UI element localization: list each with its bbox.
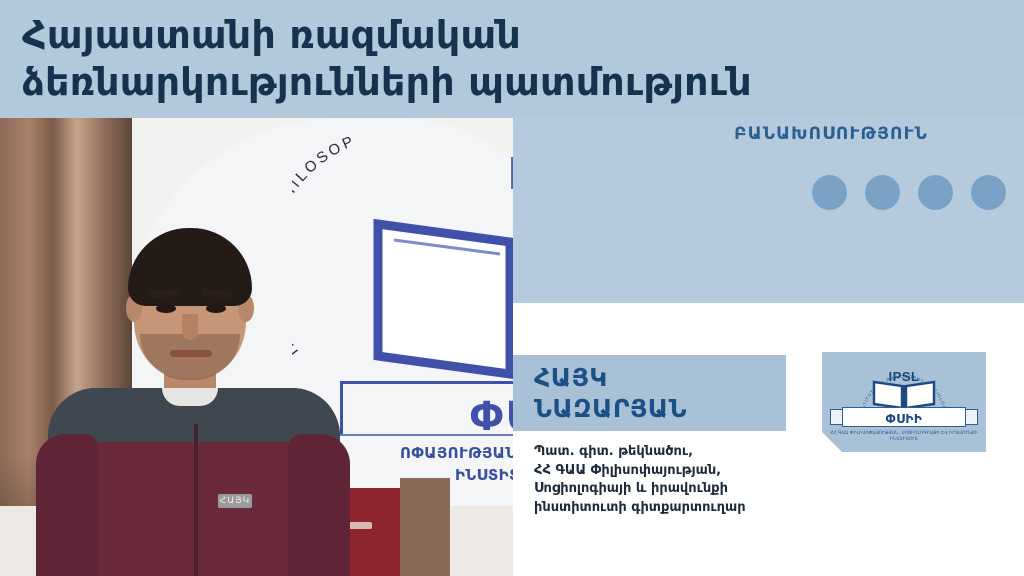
background-logo-caption-2: ԻՆՍՏԻՏՈՒՏ bbox=[455, 466, 513, 484]
right-eye bbox=[206, 304, 226, 313]
speaker-figure: ՀԱՅԿ bbox=[30, 238, 360, 576]
dot-icon bbox=[918, 175, 953, 210]
page-title: Հայաստանի ռազմական ձեռնարկությունների պա… bbox=[22, 12, 932, 106]
logo-acronym-hy: ՓՍԻԻ bbox=[862, 412, 946, 426]
zipper bbox=[194, 424, 198, 576]
dot-icon bbox=[812, 175, 847, 210]
decorative-dots bbox=[812, 175, 1006, 210]
speaker-credentials: Պատ. գիտ. թեկնածու, ՀՀ ԳԱԱ Փիլիսոփայությ… bbox=[534, 443, 834, 517]
title-line-2: ձեռնարկությունների պատմություն bbox=[22, 59, 932, 106]
chest-badge: ՀԱՅԿ bbox=[218, 494, 252, 508]
logo-caption: ՀՀ ԳԱԱ ՓԻԼԻՍՈՓԱՅՈՒԹՅԱՆ, ՍՈՑԻՈԼՈԳԻԱՅԻ ԵՎ … bbox=[830, 430, 978, 442]
title-line-1: Հայաստանի ռազմական bbox=[22, 12, 932, 59]
door-frame bbox=[400, 478, 450, 576]
background-logo-caption-1: ՈՓԱՅՈՒԹՅԱՆ, ՍՈՑԻՈ bbox=[400, 444, 513, 462]
dot-icon bbox=[865, 175, 900, 210]
background-logo-acronym: IPSL bbox=[508, 146, 513, 200]
mouth bbox=[170, 350, 212, 357]
right-arm bbox=[288, 434, 350, 576]
credential-line: Պատ. գիտ. թեկնածու, bbox=[534, 443, 834, 462]
nose bbox=[182, 314, 198, 340]
poster-divider bbox=[340, 381, 513, 384]
hair bbox=[128, 228, 252, 306]
speaker-last-name: ՆԱԶԱՐՅԱՆ bbox=[534, 393, 786, 424]
open-book-icon bbox=[872, 378, 936, 410]
speaker-name-badge: ՀԱՅԿ ՆԱԶԱՐՅԱՆ bbox=[513, 355, 786, 431]
left-arm bbox=[36, 434, 98, 576]
dot-icon bbox=[971, 175, 1006, 210]
credential-line: ՀՀ ԳԱԱ Փիլիսոփայության, bbox=[534, 462, 834, 481]
subtitle: ԲԱՆԱԽՈՍՈՒԹՅՈՒՆ bbox=[734, 124, 928, 144]
open-book-icon bbox=[370, 206, 513, 386]
beard bbox=[140, 334, 240, 380]
speaker-first-name: ՀԱՅԿ bbox=[534, 362, 786, 393]
institute-logo-badge: INSTITUTE OF PHILOSOPHY, SOCIOLOGY AND L… bbox=[822, 352, 986, 452]
header-band: Հայաստանի ռազմական ձեռնարկությունների պա… bbox=[0, 0, 1024, 118]
speaker-photo: INSTITUTE OF PHILOSOP IPSL ՓՍԻԻ bbox=[0, 118, 513, 576]
presentation-slide: Հայաստանի ռազմական ձեռնարկությունների պա… bbox=[0, 0, 1024, 576]
background-logo-acronym-hy: ՓՍԻԻ bbox=[470, 394, 513, 440]
left-eye bbox=[156, 304, 176, 313]
credential-line: Սոցիոլոգիայի և իրավունքի bbox=[534, 480, 834, 499]
credential-line: ինստիտուտի գիտքարտուղար bbox=[534, 499, 834, 518]
